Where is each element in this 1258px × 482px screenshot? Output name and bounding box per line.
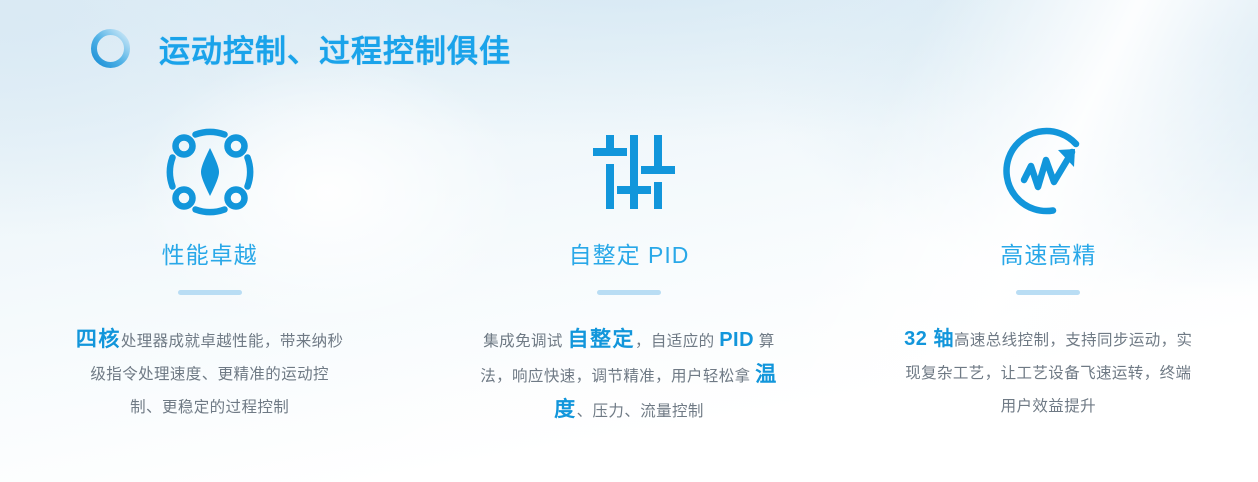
feature-text: 处理器成就卓越性能，带来纳秒级指令处理速度、更精准的运动控制、更稳定的过程控制 — [90, 333, 343, 416]
feature-text: 集成免调试 — [483, 333, 567, 350]
feature-card-speed: 高速高精 32 轴高速总线控制，支持同步运动，实现复杂工艺，让工艺设备飞速运转，… — [839, 120, 1258, 428]
feature-text: 、压力、流量控制 — [577, 403, 704, 420]
feature-highlight: 自整定 — [568, 328, 636, 351]
feature-card-performance: 性能卓越 四核处理器成就卓越性能，带来纳秒级指令处理速度、更精准的运动控制、更稳… — [0, 120, 419, 428]
ring-circle-icon — [88, 26, 133, 71]
feature-text: ，自适应的 — [635, 333, 719, 350]
feature-card-pid: 自整定 PID 集成免调试 自整定，自适应的 PID 算法，响应快速，调节精准，… — [419, 120, 838, 428]
feature-highlight: 32 轴 — [904, 328, 954, 350]
feature-title: 性能卓越 — [162, 236, 258, 270]
feature-columns: 性能卓越 四核处理器成就卓越性能，带来纳秒级指令处理速度、更精准的运动控制、更稳… — [0, 120, 1258, 428]
trending-up-arrow-circle-icon — [998, 120, 1098, 224]
feature-divider — [1016, 290, 1080, 295]
equalizer-sliders-icon — [579, 120, 679, 224]
feature-title: 自整定 PID — [569, 236, 690, 270]
page-title: 运动控制、过程控制俱佳 — [159, 26, 511, 71]
feature-description: 32 轴高速总线控制，支持同步运动，实现复杂工艺，让工艺设备飞速运转，终端用户效… — [902, 323, 1194, 423]
feature-description: 四核处理器成就卓越性能，带来纳秒级指令处理速度、更精准的运动控制、更稳定的过程控… — [76, 323, 344, 424]
feature-divider — [597, 290, 661, 295]
section-heading: 运动控制、过程控制俱佳 — [88, 26, 511, 71]
feature-description: 集成免调试 自整定，自适应的 PID 算法，响应快速，调节精准，用户轻松拿 温度… — [479, 323, 779, 428]
feature-title: 高速高精 — [1000, 236, 1096, 270]
feature-divider — [178, 290, 242, 295]
feature-highlight: 四核 — [76, 328, 121, 351]
orbit-nodes-diamond-icon — [160, 120, 260, 224]
feature-section: 运动控制、过程控制俱佳 — [0, 0, 1258, 482]
feature-highlight: PID — [719, 329, 754, 351]
